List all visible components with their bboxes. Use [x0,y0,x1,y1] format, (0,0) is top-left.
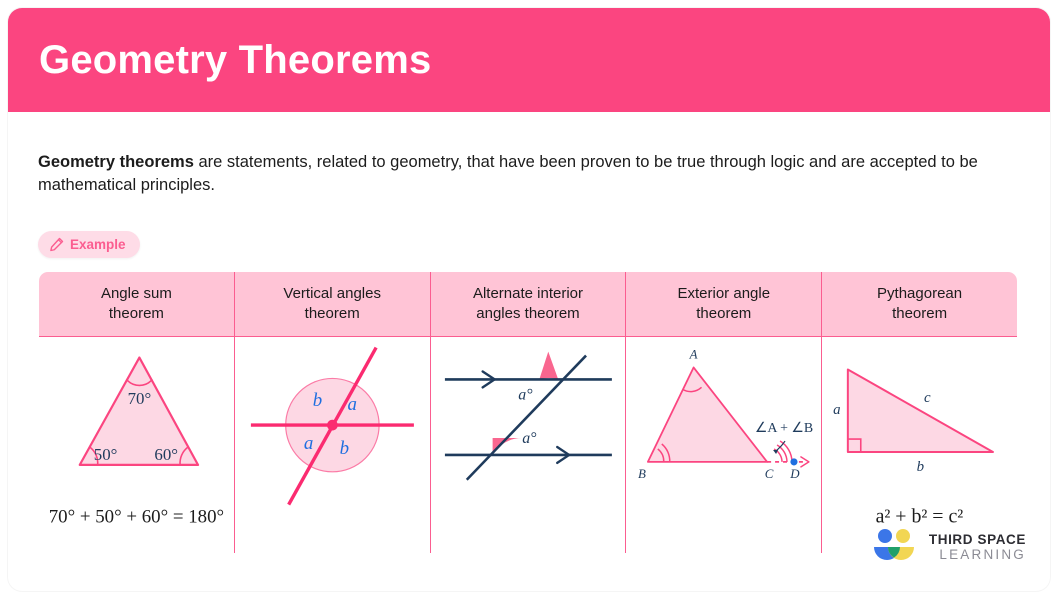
theorems-diagram-row: 70° 50° 60° 70° + 50° + 60° = 180° [39,337,1018,554]
column-header-angle-sum: Angle sum theorem [39,271,235,337]
pencil-icon [49,237,64,252]
page-header: Geometry Theorems [8,8,1050,112]
cell-exterior-angle: A B C D ∠A + ∠B [626,337,822,554]
label-angle-top: 70° [128,390,152,409]
logo-head-right [896,529,910,543]
cell-vertical-angles: b a a b [234,337,430,554]
label-b-bottom: b [339,438,348,459]
column-header-pythagorean: Pythagorean theorem [822,271,1018,337]
header-line-1: Vertical angles [283,285,381,302]
page-title: Geometry Theorems [39,40,431,80]
label-vertex-c: C [765,466,774,481]
header-line-2: angles theorem [476,305,579,322]
header-line-2: theorem [109,305,164,322]
intro-bold-lead: Geometry theorems [38,153,194,171]
formula-angle-sum: 70° + 50° + 60° = 180° [49,507,224,528]
theorems-header-row: Angle sum theorem Vertical angles theore… [39,271,1018,337]
label-side-c: c [924,391,931,407]
label-angle-right: 60° [154,445,178,464]
header-line-1: Angle sum [101,285,172,302]
label-vertex-d: D [790,466,801,481]
label-side-a: a [833,403,840,419]
formula-pythagorean: a² + b² = c² [876,506,964,528]
example-badge[interactable]: Example [38,231,140,258]
header-line-2: theorem [305,305,360,322]
logo-head-left [878,529,892,543]
cell-alternate-interior: a° a° [430,337,626,554]
brand-logo-line-1: THIRD SPACE [929,533,1026,547]
diagram-alternate-interior: a° a° [431,337,626,553]
label-a-bottom: a° [522,430,537,447]
annotation-exterior-sum: ∠A + ∠B [755,421,813,436]
theorems-table-head: Angle sum theorem Vertical angles theore… [39,271,1018,337]
theorems-table: Angle sum theorem Vertical angles theore… [38,271,1018,555]
label-side-b: b [917,459,924,475]
cell-pythagorean: a b c a² + b² = c² [822,337,1018,554]
header-line-1: Exterior angle [678,285,771,302]
label-b-top: b [313,391,322,412]
diagram-exterior-angle: A B C D ∠A + ∠B [626,337,821,553]
header-line-1: Alternate interior [473,285,583,302]
page-body: Geometry theorems are statements, relate… [8,112,1050,554]
column-header-alternate-interior: Alternate interior angles theorem [430,271,626,337]
theorems-table-body: 70° 50° 60° 70° + 50° + 60° = 180° [39,337,1018,554]
label-angle-left: 50° [94,445,118,464]
header-line-2: theorem [892,305,947,322]
brand-logo-text: THIRD SPACE LEARNING [929,533,1026,561]
brand-logo: THIRD SPACE LEARNING [869,528,1026,567]
right-triangle-shape [848,370,993,452]
third-space-learning-mark-icon [869,528,919,567]
label-a-top: a [347,395,356,416]
wedge-top [539,352,558,380]
diagram-right-triangle: a b c a² + b² = c² [822,337,1017,553]
page-root: Geometry Theorems Geometry theorems are … [0,0,1058,599]
label-vertex-b: B [638,466,646,481]
cell-angle-sum: 70° 50° 60° 70° + 50° + 60° = 180° [39,337,235,554]
intersection-point [327,420,338,431]
label-a-top: a° [518,387,533,404]
header-line-2: theorem [696,305,751,322]
lesson-card: Geometry Theorems Geometry theorems are … [8,8,1050,591]
diagram-vertical-angles: b a a b [235,337,430,553]
label-a-bottom: a [304,433,313,454]
column-header-vertical-angles: Vertical angles theorem [234,271,430,337]
brand-logo-line-2: LEARNING [929,548,1026,562]
point-d-dot [791,459,798,466]
column-header-exterior-angle: Exterior angle theorem [626,271,822,337]
header-line-1: Pythagorean [877,285,962,302]
diagram-angle-sum-triangle: 70° 50° 60° 70° + 50° + 60° = 180° [39,337,234,553]
intro-paragraph: Geometry theorems are statements, relate… [38,151,1013,199]
example-badge-label: Example [70,237,126,252]
label-vertex-a: A [689,347,698,362]
